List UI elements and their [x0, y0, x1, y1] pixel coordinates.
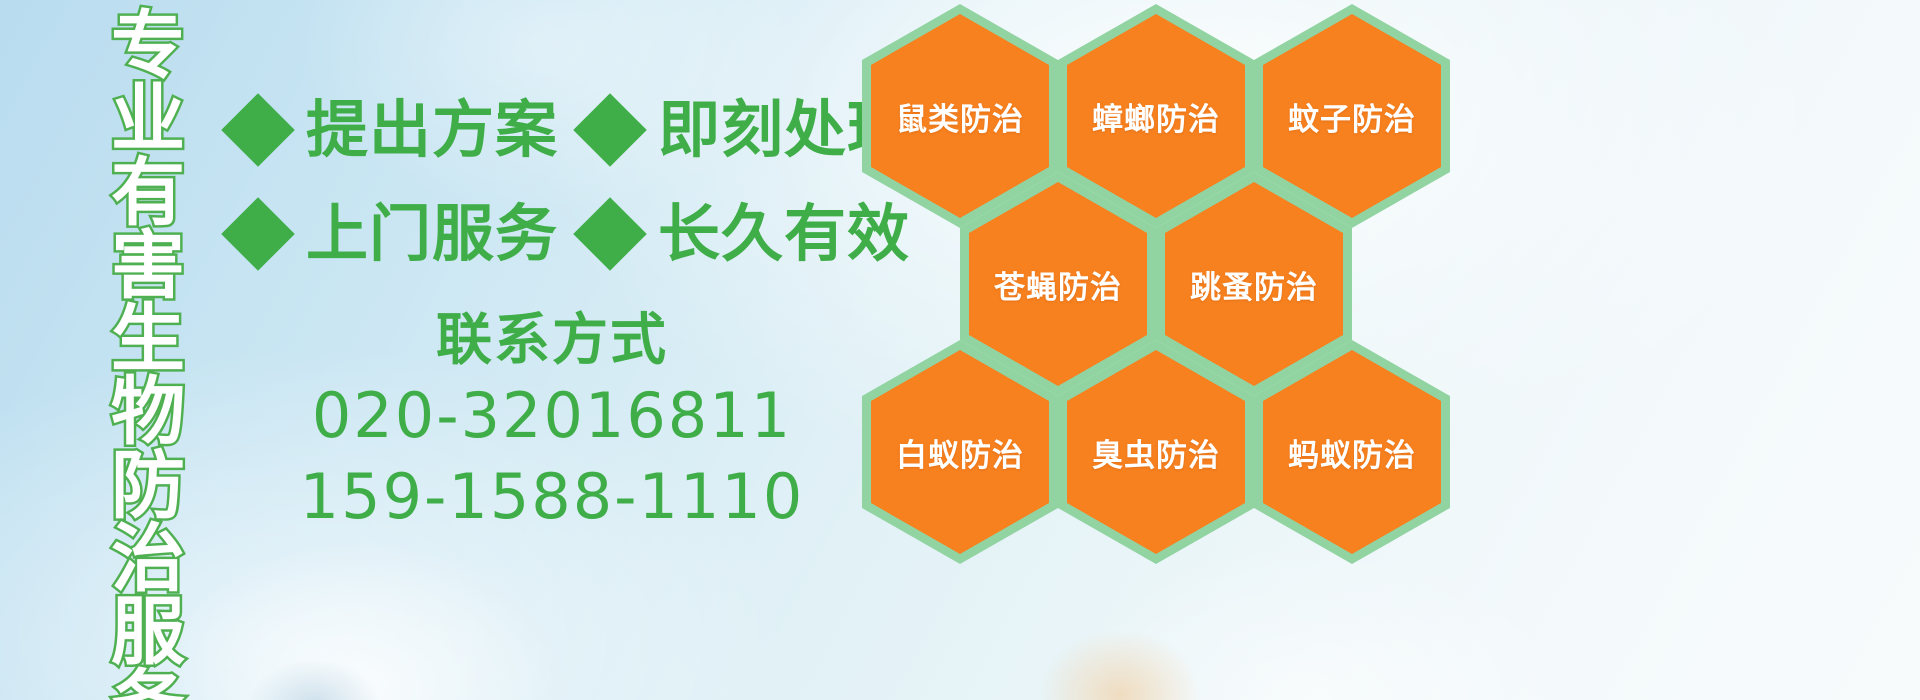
contact-title: 联系方式 — [232, 306, 872, 376]
feature-row: 提出方案 即刻处理 — [232, 78, 872, 182]
vertical-slogan-char: 生 — [111, 303, 185, 376]
diamond-bullet-icon — [573, 197, 647, 271]
diamond-bullet-icon — [221, 197, 295, 271]
vertical-slogan-char: 服 — [111, 596, 185, 669]
service-hex-label: 鼠类防治 — [896, 94, 1024, 139]
service-hex-termite[interactable]: 白蚁防治 — [862, 340, 1058, 564]
promo-banner: 专 业 有 害 生 物 防 治 服 务 提出方案 即刻处理 上门服务 长久有效 … — [0, 0, 1920, 700]
vertical-slogan: 专 业 有 害 生 物 防 治 服 务 — [100, 10, 196, 640]
background-accent-blue — [250, 660, 380, 700]
diamond-bullet-icon — [221, 93, 295, 167]
vertical-slogan-char: 治 — [111, 523, 185, 596]
feature-row: 上门服务 长久有效 — [232, 182, 872, 286]
vertical-slogan-char: 业 — [111, 83, 185, 156]
vertical-slogan-char: 有 — [111, 157, 185, 230]
vertical-slogan-char: 专 — [111, 10, 185, 83]
service-hex-bedbug[interactable]: 臭虫防治 — [1058, 340, 1254, 564]
background-glow-left — [150, 540, 570, 700]
service-hex-label: 跳蚤防治 — [1190, 262, 1318, 307]
phone-number-mobile[interactable]: 159-1588-1110 — [232, 457, 872, 538]
feature-list: 提出方案 即刻处理 上门服务 长久有效 — [232, 78, 872, 286]
feature-label: 上门服务 — [306, 203, 558, 265]
contact-block: 联系方式 020-32016811 159-1588-1110 — [232, 306, 872, 537]
diamond-bullet-icon — [573, 93, 647, 167]
vertical-slogan-char: 务 — [111, 669, 185, 700]
vertical-slogan-char: 物 — [111, 376, 185, 449]
service-hex-ant[interactable]: 蚂蚁防治 — [1254, 340, 1450, 564]
phone-number-landline[interactable]: 020-32016811 — [232, 376, 872, 457]
service-hex-label: 蟑螂防治 — [1092, 94, 1220, 139]
service-hex-label: 蚊子防治 — [1288, 94, 1416, 139]
vertical-slogan-char: 防 — [111, 450, 185, 523]
service-hex-label: 臭虫防治 — [1092, 430, 1220, 475]
vertical-slogan-char: 害 — [111, 230, 185, 303]
service-hex-label: 白蚁防治 — [896, 430, 1024, 475]
service-honeycomb: 鼠类防治 蟑螂防治 蚊子防治 苍蝇防治 跳蚤防治 白蚁防治 — [862, 4, 1462, 564]
background-glow-right — [1050, 540, 1570, 700]
background-accent-orange — [1040, 630, 1200, 700]
service-hex-label: 苍蝇防治 — [994, 262, 1122, 307]
feature-label: 提出方案 — [306, 99, 558, 161]
service-hex-label: 蚂蚁防治 — [1288, 430, 1416, 475]
